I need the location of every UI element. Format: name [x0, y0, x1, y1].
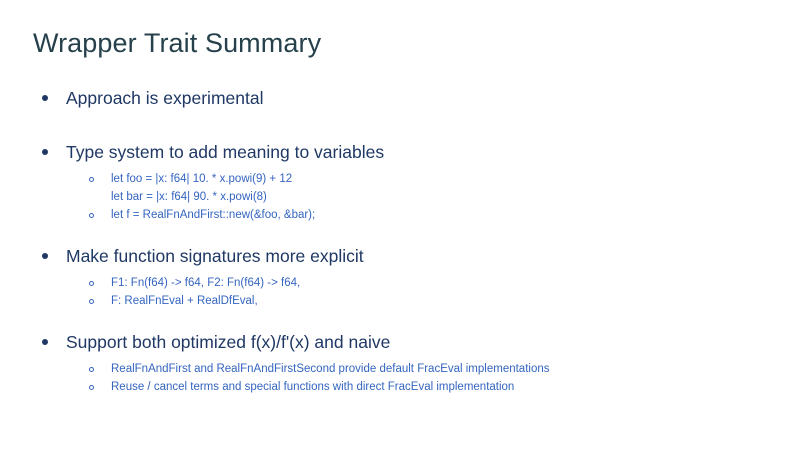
- sub-bullet-item: let bar = |x: f64| 90. * x.powi(8): [33, 188, 763, 206]
- sub-bullet-label: RealFnAndFirst and RealFnAndFirstSecond …: [111, 360, 763, 378]
- bullet-label: Make function signatures more explicit: [66, 244, 763, 268]
- bullet-label: Approach is experimental: [66, 86, 763, 110]
- sub-bullet-item: F1: Fn(f64) -> f64, F2: Fn(f64) -> f64,: [33, 274, 763, 292]
- bullet-circle-icon: [33, 188, 111, 206]
- bullet-circle-icon: [33, 206, 111, 224]
- bullet-dot-icon: [33, 244, 66, 268]
- sub-bullet-label: F: RealFnEval + RealDfEval,: [111, 292, 763, 310]
- bullet-circle-icon: [33, 274, 111, 292]
- slide-body: Approach is experimental Type system to …: [33, 86, 763, 396]
- sub-bullet-list: F1: Fn(f64) -> f64, F2: Fn(f64) -> f64, …: [33, 274, 763, 310]
- bullet-dot-icon: [33, 140, 66, 164]
- sub-bullet-item: let foo = |x: f64| 10. * x.powi(9) + 12: [33, 170, 763, 188]
- bullet-item: Make function signatures more explicit: [33, 244, 763, 268]
- bullet-group: Type system to add meaning to variables …: [33, 140, 763, 224]
- bullet-circle-icon: [33, 360, 111, 378]
- page-title: Wrapper Trait Summary: [33, 26, 321, 60]
- sub-bullet-label: let foo = |x: f64| 10. * x.powi(9) + 12: [111, 170, 763, 188]
- bullet-item: Support both optimized f(x)/f'(x) and na…: [33, 330, 763, 354]
- bullet-circle-icon: [33, 170, 111, 188]
- bullet-group: Support both optimized f(x)/f'(x) and na…: [33, 330, 763, 396]
- sub-bullet-list: let foo = |x: f64| 10. * x.powi(9) + 12 …: [33, 170, 763, 224]
- sub-bullet-item: let f = RealFnAndFirst::new(&foo, &bar);: [33, 206, 763, 224]
- sub-bullet-label: F1: Fn(f64) -> f64, F2: Fn(f64) -> f64,: [111, 274, 763, 292]
- bullet-dot-icon: [33, 330, 66, 354]
- sub-bullet-list: RealFnAndFirst and RealFnAndFirstSecond …: [33, 360, 763, 396]
- bullet-circle-icon: [33, 292, 111, 310]
- sub-bullet-label: let bar = |x: f64| 90. * x.powi(8): [111, 188, 763, 206]
- bullet-item: Type system to add meaning to variables: [33, 140, 763, 164]
- bullet-label: Support both optimized f(x)/f'(x) and na…: [66, 330, 763, 354]
- sub-bullet-item: RealFnAndFirst and RealFnAndFirstSecond …: [33, 360, 763, 378]
- sub-bullet-label: Reuse / cancel terms and special functio…: [111, 378, 763, 396]
- bullet-circle-icon: [33, 378, 111, 396]
- bullet-group: Make function signatures more explicit F…: [33, 244, 763, 310]
- sub-bullet-label: let f = RealFnAndFirst::new(&foo, &bar);: [111, 206, 763, 224]
- bullet-item: Approach is experimental: [33, 86, 763, 110]
- bullet-label: Type system to add meaning to variables: [66, 140, 763, 164]
- slide: Wrapper Trait Summary Approach is experi…: [0, 0, 800, 450]
- sub-bullet-item: F: RealFnEval + RealDfEval,: [33, 292, 763, 310]
- bullet-dot-icon: [33, 86, 66, 110]
- sub-bullet-item: Reuse / cancel terms and special functio…: [33, 378, 763, 396]
- bullet-group: Approach is experimental: [33, 86, 763, 110]
